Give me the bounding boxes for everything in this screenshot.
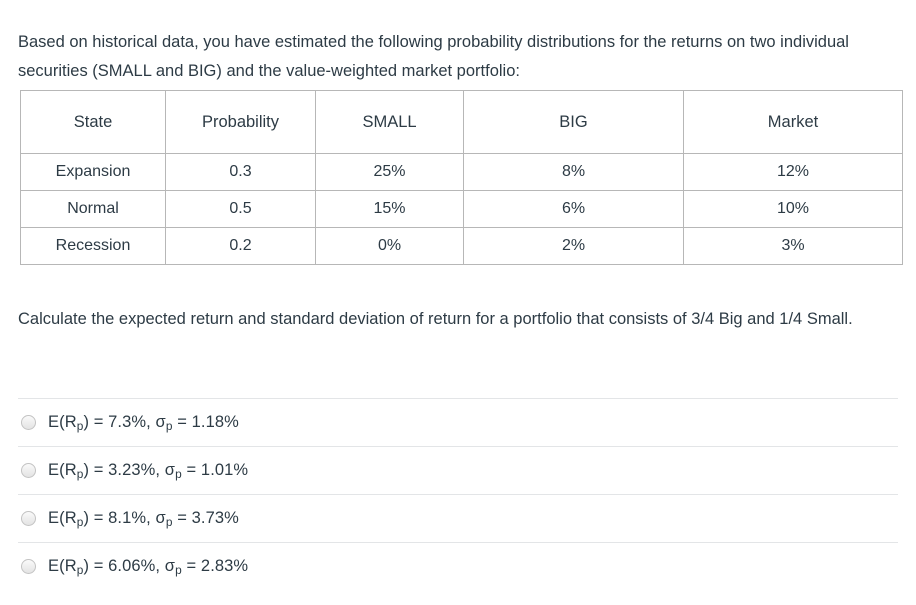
answer-option-c[interactable]: E(Rp) = 8.1%, σp = 3.73% <box>18 494 898 542</box>
cell-probability: 0.2 <box>166 228 316 265</box>
cell-small: 0% <box>316 228 464 265</box>
cell-big: 2% <box>464 228 684 265</box>
cell-small: 15% <box>316 191 464 228</box>
table-body: Expansion 0.3 25% 8% 12% Normal 0.5 15% … <box>21 154 903 265</box>
column-header-small: SMALL <box>316 91 464 154</box>
answer-options-list: E(Rp) = 7.3%, σp = 1.18% E(Rp) = 3.23%, … <box>18 398 898 590</box>
radio-button-icon[interactable] <box>21 463 36 478</box>
probability-distribution-table: State Probability SMALL BIG Market Expan… <box>20 90 903 265</box>
table-row: Recession 0.2 0% 2% 3% <box>21 228 903 265</box>
prompt-paragraph: Based on historical data, you have estim… <box>18 28 898 86</box>
cell-probability: 0.3 <box>166 154 316 191</box>
cell-big: 6% <box>464 191 684 228</box>
column-header-market: Market <box>684 91 903 154</box>
cell-market: 3% <box>684 228 903 265</box>
column-header-state: State <box>21 91 166 154</box>
table-row: Expansion 0.3 25% 8% 12% <box>21 154 903 191</box>
answer-option-d[interactable]: E(Rp) = 6.06%, σp = 2.83% <box>18 542 898 590</box>
answer-option-label: E(Rp) = 3.23%, σp = 1.01% <box>48 461 248 480</box>
answer-option-a[interactable]: E(Rp) = 7.3%, σp = 1.18% <box>18 398 898 446</box>
answer-option-label: E(Rp) = 6.06%, σp = 2.83% <box>48 557 248 576</box>
column-header-big: BIG <box>464 91 684 154</box>
cell-state: Expansion <box>21 154 166 191</box>
table-header-row: State Probability SMALL BIG Market <box>21 91 903 154</box>
question-page: Based on historical data, you have estim… <box>0 0 916 605</box>
radio-button-icon[interactable] <box>21 559 36 574</box>
cell-probability: 0.5 <box>166 191 316 228</box>
cell-market: 12% <box>684 154 903 191</box>
answer-option-label: E(Rp) = 8.1%, σp = 3.73% <box>48 509 239 528</box>
cell-state: Recession <box>21 228 166 265</box>
column-header-probability: Probability <box>166 91 316 154</box>
cell-market: 10% <box>684 191 903 228</box>
cell-small: 25% <box>316 154 464 191</box>
question-paragraph: Calculate the expected return and standa… <box>18 305 898 334</box>
answer-option-b[interactable]: E(Rp) = 3.23%, σp = 1.01% <box>18 446 898 494</box>
answer-option-label: E(Rp) = 7.3%, σp = 1.18% <box>48 413 239 432</box>
radio-button-icon[interactable] <box>21 511 36 526</box>
radio-button-icon[interactable] <box>21 415 36 430</box>
table-header: State Probability SMALL BIG Market <box>21 91 903 154</box>
cell-big: 8% <box>464 154 684 191</box>
cell-state: Normal <box>21 191 166 228</box>
table-row: Normal 0.5 15% 6% 10% <box>21 191 903 228</box>
